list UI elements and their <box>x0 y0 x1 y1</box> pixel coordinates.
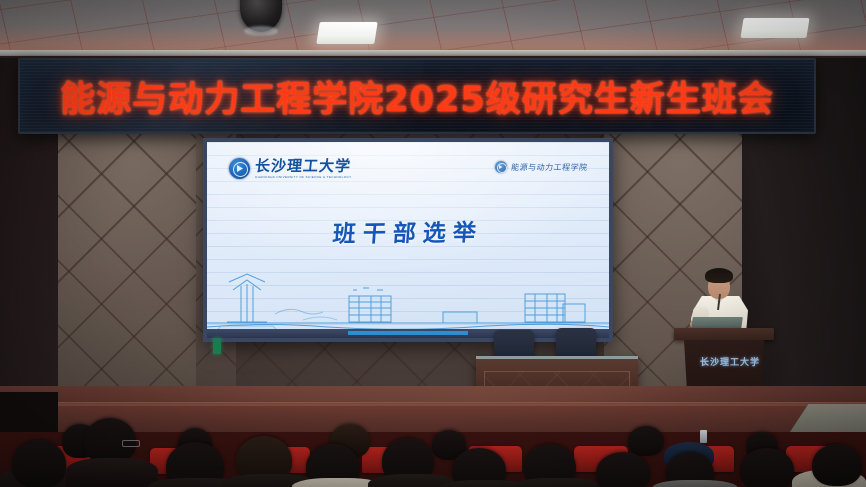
audience-shoulders <box>652 480 738 487</box>
projection-screen-frame: 长沙理工大学 CHANGSHA UNIVERSITY OF SCIENCE & … <box>203 138 613 342</box>
ceiling-panel-light <box>740 18 809 38</box>
podium-label: 长沙理工大学 <box>694 355 766 368</box>
audience-head <box>740 448 794 487</box>
photo-canvas: 能源与动力工程学院2025级研究生新生班会 长沙理工大学 CHANGSHA UN… <box>0 0 866 487</box>
university-name-cn: 长沙理工大学 <box>254 159 352 174</box>
projection-screen: 长沙理工大学 CHANGSHA UNIVERSITY OF SCIENCE & … <box>207 142 609 338</box>
campus-skyline-illustration <box>207 260 609 338</box>
university-logo: 长沙理工大学 CHANGSHA UNIVERSITY OF SCIENCE & … <box>229 158 352 179</box>
eyeglasses-icon <box>122 440 140 447</box>
audience-head <box>812 444 862 486</box>
audience-head <box>12 440 66 487</box>
speaker-hair <box>705 268 733 283</box>
school-logo: 能源与动力工程学院 <box>495 161 588 173</box>
audience-shoulders <box>512 478 600 487</box>
school-name-cn: 能源与动力工程学院 <box>510 162 588 173</box>
led-banner: 能源与动力工程学院2025级研究生新生班会 <box>18 58 816 134</box>
podium-top <box>674 328 774 340</box>
university-logo-text: 长沙理工大学 CHANGSHA UNIVERSITY OF SCIENCE & … <box>255 159 352 179</box>
ceiling-panel-light <box>316 22 377 44</box>
exit-indicator-icon <box>213 338 221 354</box>
school-emblem-icon <box>495 161 507 173</box>
slide-footer-accent <box>348 331 469 335</box>
ceiling <box>0 0 866 56</box>
phone-screen-icon <box>700 430 707 443</box>
slide-title: 班干部选举 <box>207 212 609 250</box>
audience-head <box>628 426 664 456</box>
led-banner-text: 能源与动力工程学院2025级研究生新生班会 <box>60 71 773 122</box>
university-name-en: CHANGSHA UNIVERSITY OF SCIENCE & TECHNOL… <box>255 176 352 179</box>
audience-head <box>596 452 650 487</box>
audience-shoulders <box>66 458 158 487</box>
university-emblem-icon <box>229 158 250 179</box>
